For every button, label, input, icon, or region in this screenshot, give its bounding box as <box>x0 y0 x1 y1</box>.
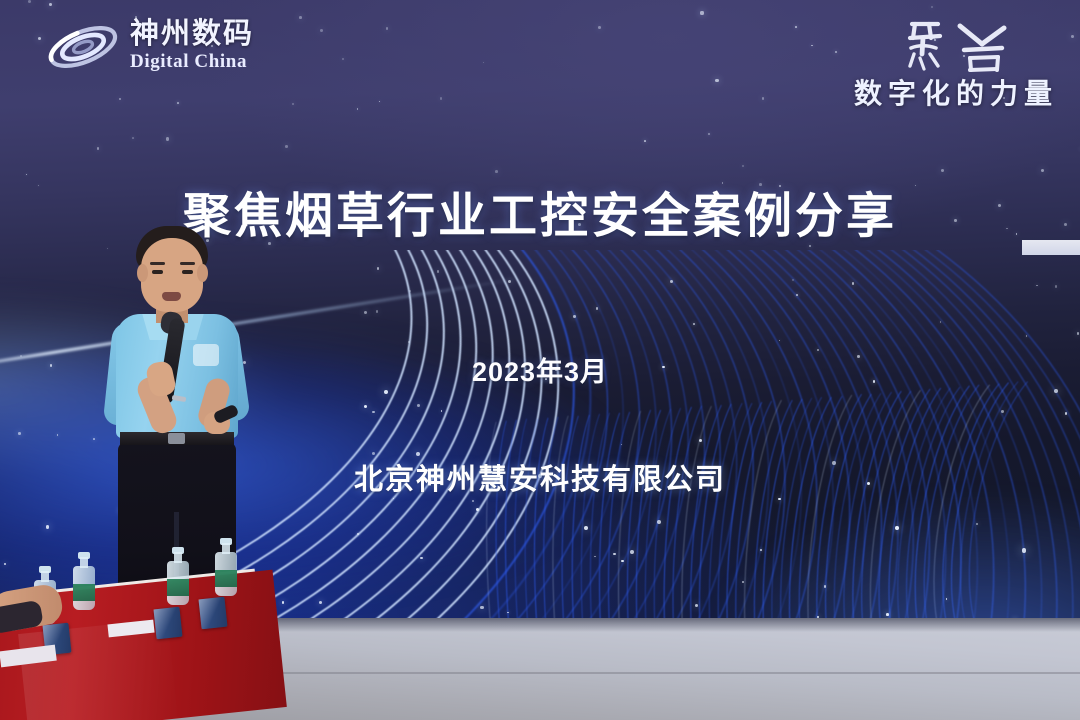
particle-dot <box>342 58 344 60</box>
particle-dot <box>49 3 52 6</box>
bottle-neck <box>174 552 182 563</box>
name-card-holder <box>199 597 228 630</box>
particle-dot <box>644 140 646 142</box>
particle-dot <box>931 6 933 8</box>
bottle-neck <box>41 571 49 582</box>
particle-dot <box>28 0 31 3</box>
digital-china-name-cn: 神州数码 <box>130 20 254 49</box>
digital-china-brand: 神州数码 Digital China <box>46 18 254 76</box>
conference-photo: 神州数码 Digital China <box>0 0 1080 720</box>
bottle-body <box>167 561 189 605</box>
particle-dot <box>166 137 169 140</box>
particle-dot <box>299 16 302 19</box>
particle-dot <box>941 169 944 172</box>
name-card-holder <box>154 607 183 640</box>
speaker-ear-left <box>137 264 148 282</box>
bottle-body <box>215 552 237 596</box>
speaker-eye-right <box>182 270 193 274</box>
speaker-mouth <box>162 292 181 301</box>
particle-dot <box>1041 169 1044 172</box>
particle-dot <box>119 98 121 100</box>
juhe-tagline: 数字化的力量 <box>854 72 1058 112</box>
list-item <box>215 552 237 596</box>
bottle-label <box>167 579 189 596</box>
bottle-body <box>73 566 95 610</box>
particle-dot <box>598 26 601 29</box>
card-glass <box>154 607 183 640</box>
speaker-belt-buckle <box>168 433 185 444</box>
digital-china-spiral-logo-icon <box>46 18 120 76</box>
particle-dot <box>762 97 764 99</box>
particle-dot <box>386 27 389 30</box>
speaker-ear-right <box>197 264 208 282</box>
particle-dot <box>132 137 134 139</box>
speaker-eye-left <box>152 270 163 274</box>
list-item <box>73 566 95 610</box>
particle-dot <box>811 45 813 47</box>
bottle-label <box>73 584 95 601</box>
particle-dot <box>177 102 179 104</box>
particle-dot <box>292 103 294 105</box>
particle-dot <box>700 11 703 14</box>
particle-dot <box>715 79 718 82</box>
particle-dot <box>440 97 443 100</box>
particle-dot <box>495 170 498 173</box>
wave-right-fan <box>497 374 1080 624</box>
speaker-brow-left <box>150 262 165 265</box>
particle-dot <box>357 108 359 110</box>
particle-dot <box>285 145 288 148</box>
card-glass <box>199 597 228 630</box>
bottle-neck <box>80 557 88 568</box>
bottle-neck <box>222 543 230 554</box>
particle-dot <box>38 37 41 40</box>
particle-dot <box>708 133 710 135</box>
bottle-label <box>215 570 237 587</box>
particle-dot <box>1071 35 1074 38</box>
particle-dot <box>835 51 837 53</box>
speaker-shirt-logo <box>193 344 219 366</box>
particle-dot <box>379 101 380 102</box>
particle-dot <box>742 165 744 167</box>
speaker-brow-right <box>180 262 195 265</box>
particle-dot <box>483 62 484 63</box>
juhe-brand: 数字化的力量 <box>854 14 1058 112</box>
list-item <box>167 561 189 605</box>
particle-dot <box>320 29 323 32</box>
particle-dot <box>795 26 797 28</box>
digital-china-name-en: Digital China <box>130 52 254 71</box>
particle-dot <box>97 147 100 150</box>
juhe-calligraphy-icon <box>898 14 1028 76</box>
